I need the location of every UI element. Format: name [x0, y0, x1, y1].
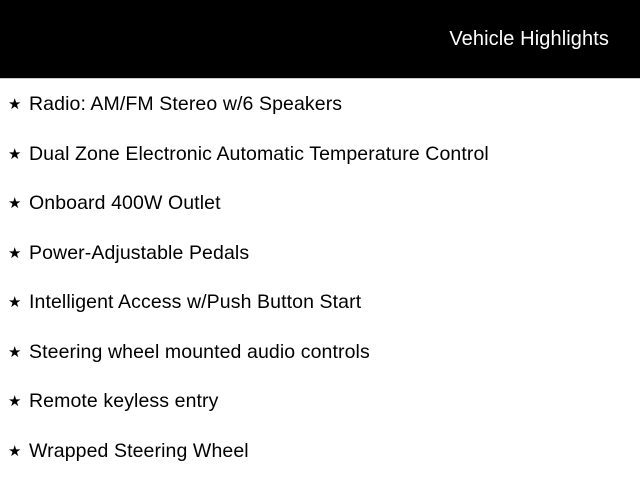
list-item: ★ Wrapped Steering Wheel: [0, 427, 640, 477]
list-item: ★ Dual Zone Electronic Automatic Tempera…: [0, 130, 640, 180]
list-item: ★ Remote keyless entry: [0, 377, 640, 427]
page-title: Vehicle Highlights: [449, 29, 640, 49]
list-item-label: Intelligent Access w/Push Button Start: [29, 278, 361, 328]
star-icon: ★: [8, 427, 29, 477]
vehicle-highlights-list: ★ Radio: AM/FM Stereo w/6 Speakers ★ Dua…: [0, 80, 640, 476]
list-item-label: Power-Adjustable Pedals: [29, 229, 249, 279]
list-item-label: Wrapped Steering Wheel: [29, 427, 249, 477]
star-icon: ★: [8, 80, 29, 130]
star-icon: ★: [8, 229, 29, 279]
star-icon: ★: [8, 278, 29, 328]
list-item-label: Onboard 400W Outlet: [29, 179, 221, 229]
page-header: Vehicle Highlights: [0, 0, 640, 79]
list-item-label: Steering wheel mounted audio controls: [29, 328, 370, 378]
list-item: ★ Onboard 400W Outlet: [0, 179, 640, 229]
vehicle-highlights-page: Vehicle Highlights ★ Radio: AM/FM Stereo…: [0, 0, 640, 480]
star-icon: ★: [8, 130, 29, 180]
list-item: ★ Power-Adjustable Pedals: [0, 229, 640, 279]
star-icon: ★: [8, 377, 29, 427]
list-item: ★ Steering wheel mounted audio controls: [0, 328, 640, 378]
list-item: ★ Intelligent Access w/Push Button Start: [0, 278, 640, 328]
list-item-label: Dual Zone Electronic Automatic Temperatu…: [29, 130, 489, 180]
star-icon: ★: [8, 179, 29, 229]
list-item-label: Remote keyless entry: [29, 377, 219, 427]
list-item: ★ Radio: AM/FM Stereo w/6 Speakers: [0, 80, 640, 130]
star-icon: ★: [8, 328, 29, 378]
list-item-label: Radio: AM/FM Stereo w/6 Speakers: [29, 80, 342, 130]
